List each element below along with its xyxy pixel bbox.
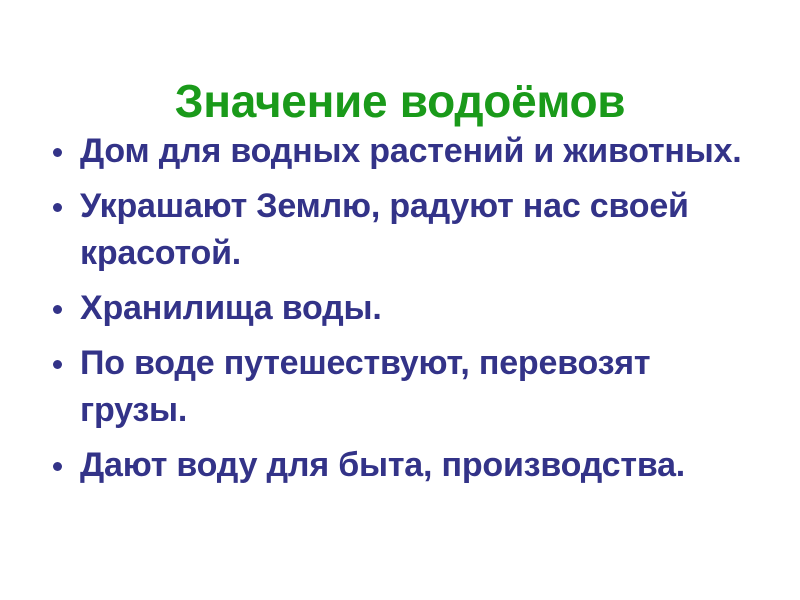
presentation-slide: Значение водоёмов Дом для водных растени… xyxy=(0,0,800,600)
list-item: Украшают Землю, радуют нас своей красото… xyxy=(44,183,760,277)
bullet-list: Дом для водных растений и животных. Укра… xyxy=(44,128,760,489)
list-item-text: По воде путешествуют, перевозят грузы. xyxy=(80,340,760,434)
list-item: Дом для водных растений и животных. xyxy=(44,128,760,175)
list-item: По воде путешествуют, перевозят грузы. xyxy=(44,340,760,434)
list-item: Дают воду для быта, производства. xyxy=(44,442,760,489)
bullet-dot-icon xyxy=(53,360,62,369)
list-item-text: Дом для водных растений и животных. xyxy=(80,128,760,175)
bullet-dot-icon xyxy=(53,462,62,471)
list-item-text: Украшают Землю, радуют нас своей красото… xyxy=(80,183,760,277)
slide-title: Значение водоёмов xyxy=(0,77,800,126)
bullet-dot-icon xyxy=(53,305,62,314)
list-item-text: Дают воду для быта, производства. xyxy=(80,442,760,489)
list-item: Хранилища воды. xyxy=(44,285,760,332)
list-item-text: Хранилища воды. xyxy=(80,285,760,332)
bullet-dot-icon xyxy=(53,203,62,212)
bullet-dot-icon xyxy=(53,148,62,157)
